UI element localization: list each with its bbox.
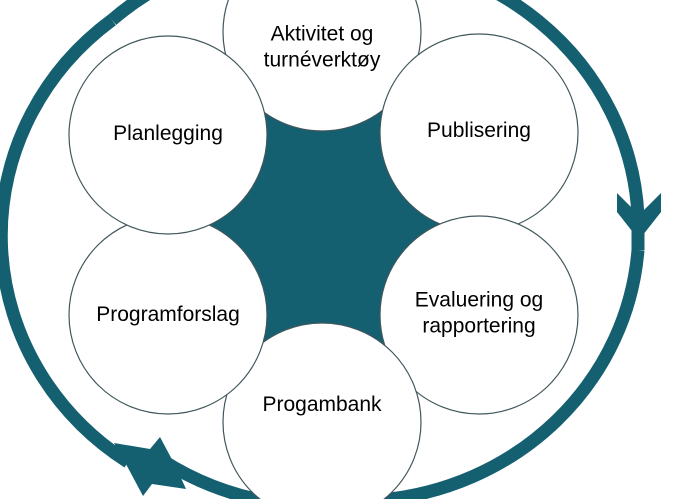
- node-circle-publisering[interactable]: [380, 34, 578, 232]
- node-circle-planlegging[interactable]: [69, 36, 267, 234]
- node-circle-programforslag[interactable]: [69, 216, 267, 414]
- cycle-diagram: Aktivitet og turnéverktøy Publisering Ev…: [0, 0, 676, 499]
- diagram-canvas: [0, 0, 676, 499]
